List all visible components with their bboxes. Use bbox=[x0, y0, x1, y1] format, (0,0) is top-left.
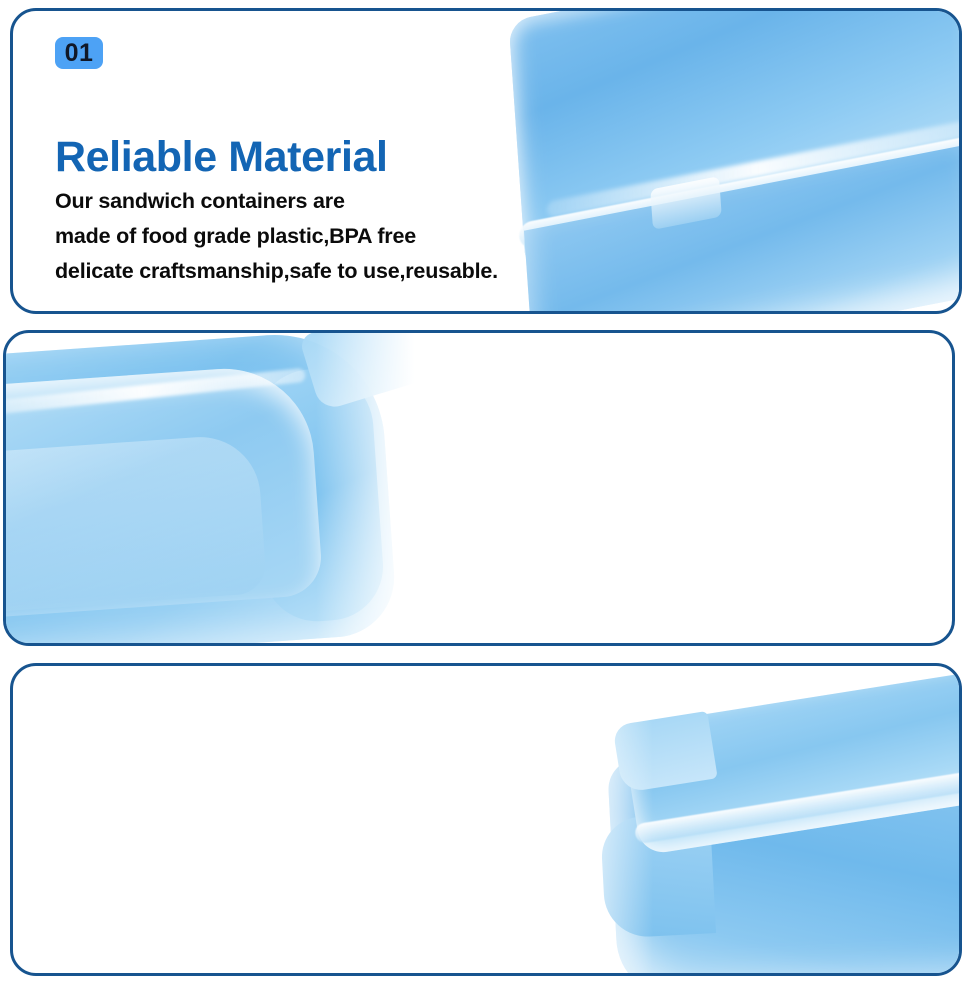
lid-tab-shape bbox=[612, 711, 717, 793]
container-floor-shape bbox=[6, 433, 267, 613]
feature-card-01: 01 Reliable Material Our sandwich contai… bbox=[10, 8, 962, 314]
image-fade-mask bbox=[316, 333, 436, 646]
feature-body-01: Our sandwich containers are made of food… bbox=[55, 184, 498, 289]
detached-lid-corner-shape bbox=[299, 333, 436, 412]
snap-on-lid-shape bbox=[621, 666, 962, 856]
container-side-lobe-shape bbox=[249, 365, 386, 625]
badge-number-text: 01 bbox=[65, 39, 94, 68]
lid-rim-shape bbox=[518, 134, 962, 249]
container-notch-shape bbox=[600, 813, 716, 939]
container-body-shape bbox=[524, 143, 962, 314]
product-feature-infographic: 01 Reliable Material Our sandwich contai… bbox=[0, 0, 971, 981]
product-image-open-container bbox=[6, 333, 436, 646]
product-image-closed-container bbox=[503, 11, 962, 314]
container-inner-cavity-shape bbox=[6, 363, 324, 619]
feature-title-01: Reliable Material bbox=[55, 135, 498, 180]
product-image-snap-lid-container bbox=[543, 666, 962, 976]
lid-highlight-shape bbox=[546, 120, 962, 218]
container-body-shape bbox=[607, 740, 962, 976]
container-rim-highlight-shape bbox=[6, 368, 306, 416]
feature-card-02: 02 Large Capacity With a capacity of abo… bbox=[3, 330, 955, 646]
feature-card-03: 03 Easy opening and closing A simple sna… bbox=[10, 663, 962, 976]
feature-text-block-01: Reliable Material Our sandwich container… bbox=[55, 135, 498, 289]
container-lid-shape bbox=[509, 11, 962, 272]
container-clip-shape bbox=[650, 176, 722, 230]
lid-edge-highlight-shape bbox=[634, 764, 962, 844]
image-fade-mask bbox=[543, 666, 653, 976]
container-outer-wall-shape bbox=[6, 333, 398, 646]
feature-number-badge-01: 01 bbox=[55, 37, 103, 69]
